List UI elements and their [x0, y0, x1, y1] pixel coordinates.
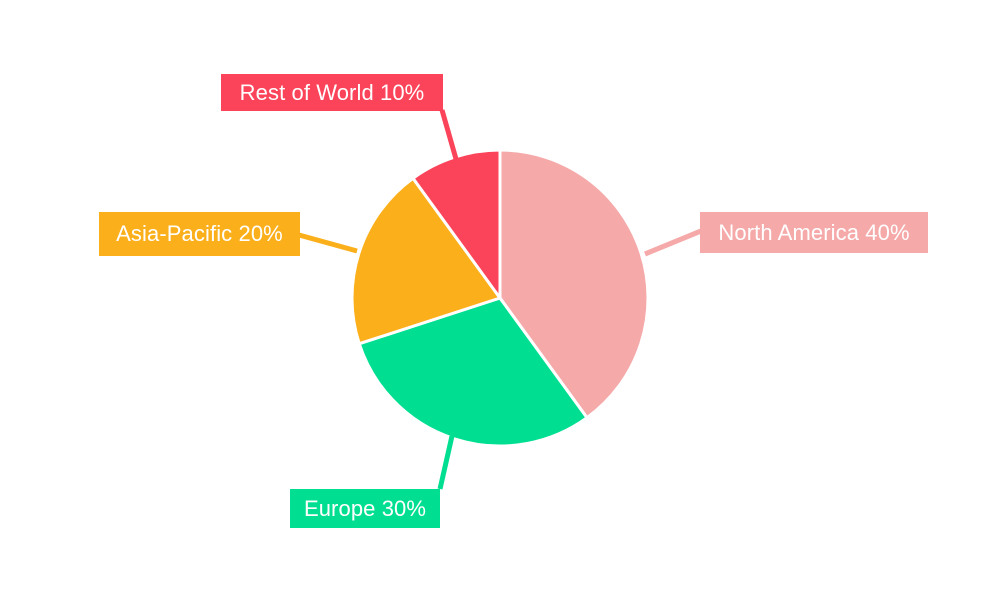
pie-label-rest-of-world[interactable]: Rest of World 10%: [221, 74, 443, 111]
pie-chart-canvas: [0, 0, 1000, 600]
pie-wedges: [352, 150, 648, 446]
pie-label-europe[interactable]: Europe 30%: [290, 489, 440, 528]
leader-line-europe: [440, 436, 452, 489]
pie-label-asia-pacific-text: Asia-Pacific 20%: [116, 223, 283, 245]
leader-line-rest-of-world: [442, 110, 456, 159]
pie-chart-figure: North America 40% Europe 30% Asia-Pacifi…: [0, 0, 1000, 600]
leader-line-asia-pacific: [299, 235, 357, 251]
pie-label-asia-pacific[interactable]: Asia-Pacific 20%: [99, 212, 300, 256]
pie-label-rest-of-world-text: Rest of World 10%: [240, 82, 425, 104]
pie-label-north-america-text: North America 40%: [718, 222, 909, 244]
pie-label-north-america[interactable]: North America 40%: [700, 212, 928, 253]
leader-line-north-america: [645, 231, 701, 254]
pie-label-europe-text: Europe 30%: [304, 498, 426, 520]
